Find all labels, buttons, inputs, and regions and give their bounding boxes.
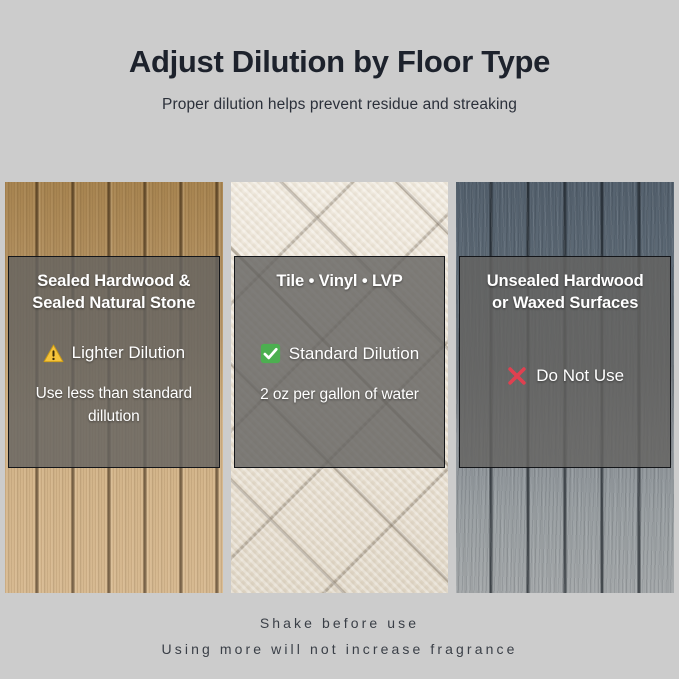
panel-title-tile-vinyl-lvp: Tile • Vinyl • LVP: [276, 271, 402, 293]
page-header: Adjust Dilution by Floor Type Proper dil…: [0, 0, 679, 114]
status-label-lighter-dilution: Lighter Dilution: [72, 343, 185, 363]
overlay-card-unsealed-waxed: Unsealed Hardwood or Waxed Surfaces Do N…: [459, 256, 671, 468]
status-label-standard-dilution: Standard Dilution: [289, 344, 419, 364]
panel-title-line1: Unsealed Hardwood: [487, 272, 644, 290]
page-footer: Shake before use Using more will not inc…: [0, 611, 679, 663]
status-row-lighter-dilution: Lighter Dilution: [43, 343, 185, 363]
floor-type-panel-row: Sealed Hardwood & Sealed Natural Stone L…: [5, 182, 674, 593]
panel-title-line2: or Waxed Surfaces: [492, 294, 638, 312]
overlay-card-tile-vinyl-lvp: Tile • Vinyl • LVP Standard Dilution 2 o…: [234, 256, 446, 468]
footer-line-fragrance-note: Using more will not increase fragrance: [0, 637, 679, 663]
panel-title-line2: Sealed Natural Stone: [32, 294, 195, 312]
page-subtitle: Proper dilution helps prevent residue an…: [0, 96, 679, 114]
overlay-card-sealed-hardwood-stone: Sealed Hardwood & Sealed Natural Stone L…: [8, 256, 220, 468]
detail-tile-vinyl-lvp: 2 oz per gallon of water: [260, 384, 419, 406]
detail-sealed-hardwood-stone: Use less than standard dillution: [17, 383, 211, 428]
status-label-do-not-use: Do Not Use: [536, 366, 624, 386]
panel-unsealed-waxed: Unsealed Hardwood or Waxed Surfaces Do N…: [456, 182, 674, 593]
panel-title-unsealed-waxed: Unsealed Hardwood or Waxed Surfaces: [487, 271, 644, 315]
warning-triangle-icon: [43, 344, 64, 363]
green-check-icon: [260, 343, 281, 364]
panel-title-line1: Sealed Hardwood &: [37, 272, 190, 290]
page-title: Adjust Dilution by Floor Type: [0, 44, 679, 80]
footer-line-shake-before-use: Shake before use: [0, 611, 679, 637]
panel-tile-vinyl-lvp: Tile • Vinyl • LVP Standard Dilution 2 o…: [231, 182, 449, 593]
red-cross-icon: [506, 365, 528, 387]
status-row-standard-dilution: Standard Dilution: [260, 343, 419, 364]
panel-title-sealed-hardwood-stone: Sealed Hardwood & Sealed Natural Stone: [32, 271, 195, 315]
panel-sealed-hardwood-stone: Sealed Hardwood & Sealed Natural Stone L…: [5, 182, 223, 593]
status-row-do-not-use: Do Not Use: [506, 365, 624, 387]
